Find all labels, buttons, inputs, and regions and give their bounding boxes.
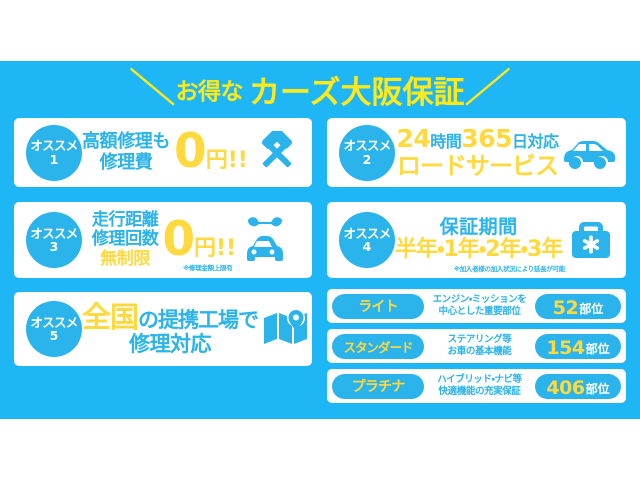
card1-price: 0 円!! xyxy=(174,131,248,174)
slash-right-decoration: ／ xyxy=(464,69,511,108)
card5-line1: 全国の提携工場で xyxy=(82,301,258,333)
card2-service-name: ロードサービス xyxy=(397,153,558,180)
benefit-card-1-body: 高額修理も 修理費 0 円!! xyxy=(82,118,314,187)
benefit-card-3-body: 走行距離 修理回数 無制限 0 円!! ※修理金額上限有 xyxy=(82,202,312,278)
plan-name-badge: スタンダード xyxy=(332,334,424,359)
plan-description-line1: エンジン・ミッションを xyxy=(427,294,532,306)
plan-count-number: 52 xyxy=(553,297,578,319)
plan-description-line1: ステアリング等 xyxy=(427,334,532,346)
card3-price: 0 円!! xyxy=(162,219,236,262)
card4-terms: 半年・1年・2年・3年 xyxy=(395,238,562,263)
plan-description-line2: お車の基本機能 xyxy=(427,346,532,358)
warranty-poster: ＼ お得な カーズ大阪保証 ／ オススメ 1 高額修理も 修理費 0 円!! xyxy=(0,0,640,480)
card4-title: 保証期間 xyxy=(440,217,518,238)
plan-row-light[interactable]: ライト エンジン・ミッションを 中心とした重要部位 52 部位 xyxy=(327,289,626,323)
benefit-card-2-text: 24時間365日対応 ロードサービス xyxy=(396,125,558,180)
card1-amount: 0 xyxy=(174,131,205,173)
card1-line1: 高額修理も xyxy=(82,132,170,152)
card3-unit: 円!! xyxy=(194,230,236,262)
recommend-badge-number: 2 xyxy=(363,153,372,166)
recommend-badge-5: オススメ 5 xyxy=(26,301,82,357)
plan-count-badge: 154 部位 xyxy=(535,334,621,359)
recommend-badge-label: オススメ xyxy=(343,139,390,152)
card5-highlight: 全国 xyxy=(82,300,138,334)
recommend-badge-number: 3 xyxy=(50,240,59,253)
recommend-badge-1: オススメ 1 xyxy=(26,125,82,181)
plan-description-line2: 快適機能の充実保証 xyxy=(427,386,532,398)
plan-row-standard[interactable]: スタンダード ステアリング等 お車の基本機能 154 部位 xyxy=(327,329,626,363)
plan-count-badge: 406 部位 xyxy=(535,374,621,399)
map-pin-icon xyxy=(258,308,316,350)
recommend-badge-3: オススメ 3 xyxy=(26,212,82,268)
recommend-badge-4: オススメ 4 xyxy=(339,212,395,268)
benefit-card-2: オススメ 2 24時間365日対応 ロードサービス xyxy=(327,118,626,187)
benefit-card-5-text: 全国の提携工場で 修理対応 xyxy=(82,301,258,357)
recommend-badge-number: 4 xyxy=(363,240,372,253)
benefit-card-1-text: 高額修理も 修理費 xyxy=(82,132,170,172)
plan-description: ハイブリッド・ナビ等 快適機能の充実保証 xyxy=(424,374,535,398)
card3-disclaimer: ※修理金額上限有 xyxy=(183,262,232,272)
benefit-card-1: オススメ 1 高額修理も 修理費 0 円!! xyxy=(14,118,312,187)
card3-line2: 修理回数 xyxy=(92,230,158,249)
plan-description-line2: 中心とした重要部位 xyxy=(427,306,532,318)
plan-count-unit: 部位 xyxy=(586,380,610,397)
recommend-badge-number: 1 xyxy=(50,153,59,166)
plan-description-line1: ハイブリッド・ナビ等 xyxy=(427,374,532,386)
card3-amount: 0 xyxy=(162,219,193,261)
benefit-card-3-text: 走行距離 修理回数 無制限 xyxy=(92,211,158,268)
plan-name-badge: ライト xyxy=(332,294,424,319)
toolbox-case-icon xyxy=(562,218,620,262)
card2-days-unit: 日対応 xyxy=(512,132,559,151)
plan-row-platinum[interactable]: プラチナ ハイブリッド・ナビ等 快適機能の充実保証 406 部位 xyxy=(327,369,626,403)
recommend-badge-label: オススメ xyxy=(30,139,77,152)
plan-name-badge: プラチナ xyxy=(332,374,424,399)
benefit-card-3: オススメ 3 走行距離 修理回数 無制限 0 円!! ※修理金額上限有 xyxy=(14,202,312,278)
plan-description: エンジン・ミッションを 中心とした重要部位 xyxy=(424,294,535,318)
card1-unit: 円!! xyxy=(206,142,248,174)
plan-list: ライト エンジン・ミッションを 中心とした重要部位 52 部位 スタンダード ス… xyxy=(327,289,626,403)
recommend-badge-number: 5 xyxy=(50,329,59,342)
plan-count-unit: 部位 xyxy=(586,340,610,357)
slash-left-decoration: ＼ xyxy=(129,69,176,108)
plan-count-badge: 52 部位 xyxy=(535,294,621,319)
plan-count-number: 406 xyxy=(546,377,584,399)
benefit-card-5-body: 全国の提携工場で 修理対応 xyxy=(82,292,324,366)
crossed-hammers-icon xyxy=(248,131,306,175)
card2-availability-line: 24時間365日対応 xyxy=(396,125,558,153)
plan-count-unit: 部位 xyxy=(579,300,603,317)
plan-count-number: 154 xyxy=(546,337,584,359)
card3-line1: 走行距離 xyxy=(92,211,158,230)
card5-line2: 修理対応 xyxy=(129,333,211,357)
card2-hours: 24 xyxy=(396,124,430,153)
card4-disclaimer: ※加入者様の加入状況により延長が可能 xyxy=(454,263,565,273)
benefit-card-4-body: 保証期間 半年・1年・2年・3年 ※加入者様の加入状況により延長が可能 xyxy=(395,202,628,278)
benefit-card-5: オススメ 5 全国の提携工場で 修理対応 xyxy=(14,292,312,366)
page-title-main: カーズ大阪保証 xyxy=(249,67,464,112)
benefit-card-4: オススメ 4 保証期間 半年・1年・2年・3年 ※加入者様の加入状況により延長が… xyxy=(327,202,626,278)
card1-line2: 修理費 xyxy=(100,153,153,173)
benefit-card-2-body: 24時間365日対応 ロードサービス xyxy=(395,118,626,187)
card2-hours-unit: 時間 xyxy=(430,132,461,151)
benefit-card-4-text: 保証期間 半年・1年・2年・3年 xyxy=(395,217,562,263)
page-title-prefix: お得な xyxy=(176,72,244,106)
card5-rest: の提携工場で xyxy=(138,308,258,332)
plan-description: ステアリング等 お車の基本機能 xyxy=(424,334,535,358)
page-title: ＼ お得な カーズ大阪保証 ／ xyxy=(0,66,640,112)
car-side-icon xyxy=(559,135,617,171)
wrench-car-icon xyxy=(236,214,294,266)
recommend-badge-2: オススメ 2 xyxy=(339,125,395,181)
card3-line3: 無制限 xyxy=(100,250,150,269)
card2-days: 365 xyxy=(461,124,512,153)
